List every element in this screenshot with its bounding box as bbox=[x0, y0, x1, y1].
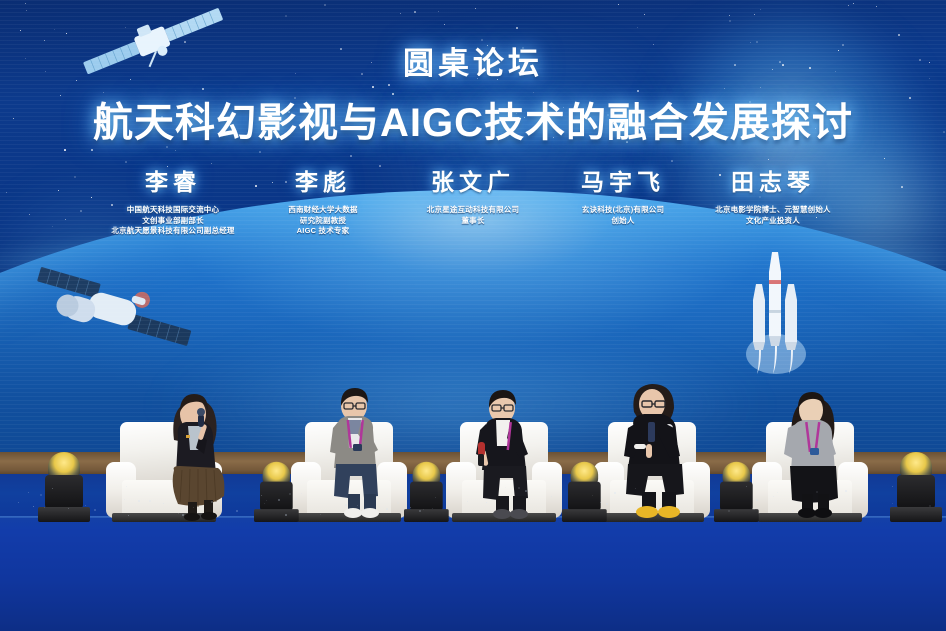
panelist-title-line: AIGC 技术专家 bbox=[248, 226, 398, 237]
panelist-title-line: 文创事业部副部长 bbox=[98, 216, 248, 227]
panelist-title-line: 创始人 bbox=[548, 216, 698, 227]
panelist-name: 张文广 bbox=[398, 163, 548, 197]
panelist-card-2: 李彪 西南财经大学大数据 研究院副教授 AIGC 技术专家 bbox=[248, 163, 398, 237]
stage-light-5 bbox=[714, 465, 759, 522]
panelist-card-3: 张文广 北京星途互动科技有限公司 董事长 bbox=[398, 163, 548, 237]
panelist-figure-5 bbox=[766, 376, 860, 522]
panelist-title-line: 研究院副教授 bbox=[248, 216, 398, 227]
forum-title: 航天科幻影视与AIGC技术的融合发展探讨 bbox=[0, 90, 946, 148]
panelist-title-line: 玄诀科技(北京)有限公司 bbox=[548, 205, 698, 216]
panelist-figure-2 bbox=[308, 376, 402, 522]
stage-light-1 bbox=[38, 452, 90, 522]
panelist-name-row: 李睿 中国航天科技国际交流中心 文创事业部副部长 北京航天愿景科技有限公司副总经… bbox=[0, 163, 946, 237]
forum-label: 圆桌论坛 bbox=[0, 38, 946, 83]
panelist-title-line: 董事长 bbox=[398, 216, 548, 227]
panelist-title-line: 西南财经大学大数据 bbox=[248, 205, 398, 216]
stage-light-6 bbox=[890, 452, 942, 522]
panelist-card-1: 李睿 中国航天科技国际交流中心 文创事业部副部长 北京航天愿景科技有限公司副总经… bbox=[98, 163, 248, 237]
backdrop-title-block: 圆桌论坛 航天科幻影视与AIGC技术的融合发展探讨 bbox=[0, 38, 946, 148]
stage-light-3 bbox=[404, 465, 449, 522]
panelist-title-line: 北京星途互动科技有限公司 bbox=[398, 205, 548, 216]
stage-light-2 bbox=[254, 465, 299, 522]
panelist-card-5: 田志琴 北京电影学院博士、元智慧创始人 文化产业投资人 bbox=[698, 163, 848, 237]
panelist-card-4: 马宇飞 玄诀科技(北京)有限公司 创始人 bbox=[548, 163, 698, 237]
panelist-figure-4 bbox=[604, 372, 704, 522]
panelist-title-line: 北京电影学院博士、元智慧创始人 bbox=[698, 205, 848, 216]
panelist-figure-1 bbox=[150, 378, 246, 522]
panelist-title-line: 文化产业投资人 bbox=[698, 216, 848, 227]
panelist-name: 田志琴 bbox=[698, 163, 848, 197]
panelist-name: 马宇飞 bbox=[548, 163, 698, 197]
conference-stage-photo: 圆桌论坛 航天科幻影视与AIGC技术的融合发展探讨 李睿 中国航天科技国际交流中… bbox=[0, 0, 946, 631]
stage-light-4 bbox=[562, 465, 607, 522]
panelist-name: 李彪 bbox=[248, 163, 398, 197]
stage-front-panel bbox=[0, 518, 946, 631]
panelist-name: 李睿 bbox=[98, 163, 248, 197]
panelist-title-line: 北京航天愿景科技有限公司副总经理 bbox=[98, 226, 248, 237]
panelist-figure-3 bbox=[458, 380, 554, 522]
panelist-title-line: 中国航天科技国际交流中心 bbox=[98, 205, 248, 216]
